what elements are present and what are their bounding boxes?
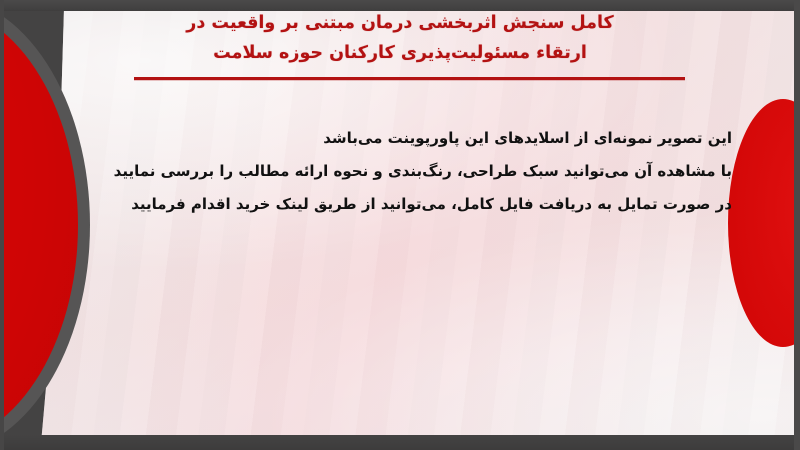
presentation-slide: کامل سنجش اثربخشی درمان مبتنی بر واقعیت … <box>0 0 800 450</box>
slide-body-line-2: با مشاهده آن می‌توانید سبک طراحی، رنگ‌بن… <box>60 155 732 188</box>
slide-body-line-1: این تصویر نمونه‌ای از اسلایدهای این پاور… <box>60 122 732 155</box>
frame-bottom-band <box>0 435 800 450</box>
title-underline-rule <box>134 77 685 80</box>
slide-title-line-1: کامل سنجش اثربخشی درمان مبتنی بر واقعیت … <box>0 8 800 38</box>
slide-title: کامل سنجش اثربخشی درمان مبتنی بر واقعیت … <box>0 8 800 68</box>
slide-body-text: این تصویر نمونه‌ای از اسلایدهای این پاور… <box>60 122 732 221</box>
background-sheen <box>0 9 800 437</box>
slide-title-line-2: ارتقاء مسئولیت‌پذیری کارکنان حوزه سلامت <box>0 38 800 68</box>
frame-right-edge <box>794 0 800 450</box>
slide-body-line-3: در صورت تمایل به دریافت فایل کامل، می‌تو… <box>60 188 732 221</box>
slide-canvas <box>0 9 800 437</box>
frame-top-band <box>0 0 800 11</box>
frame-left-edge <box>0 0 4 450</box>
